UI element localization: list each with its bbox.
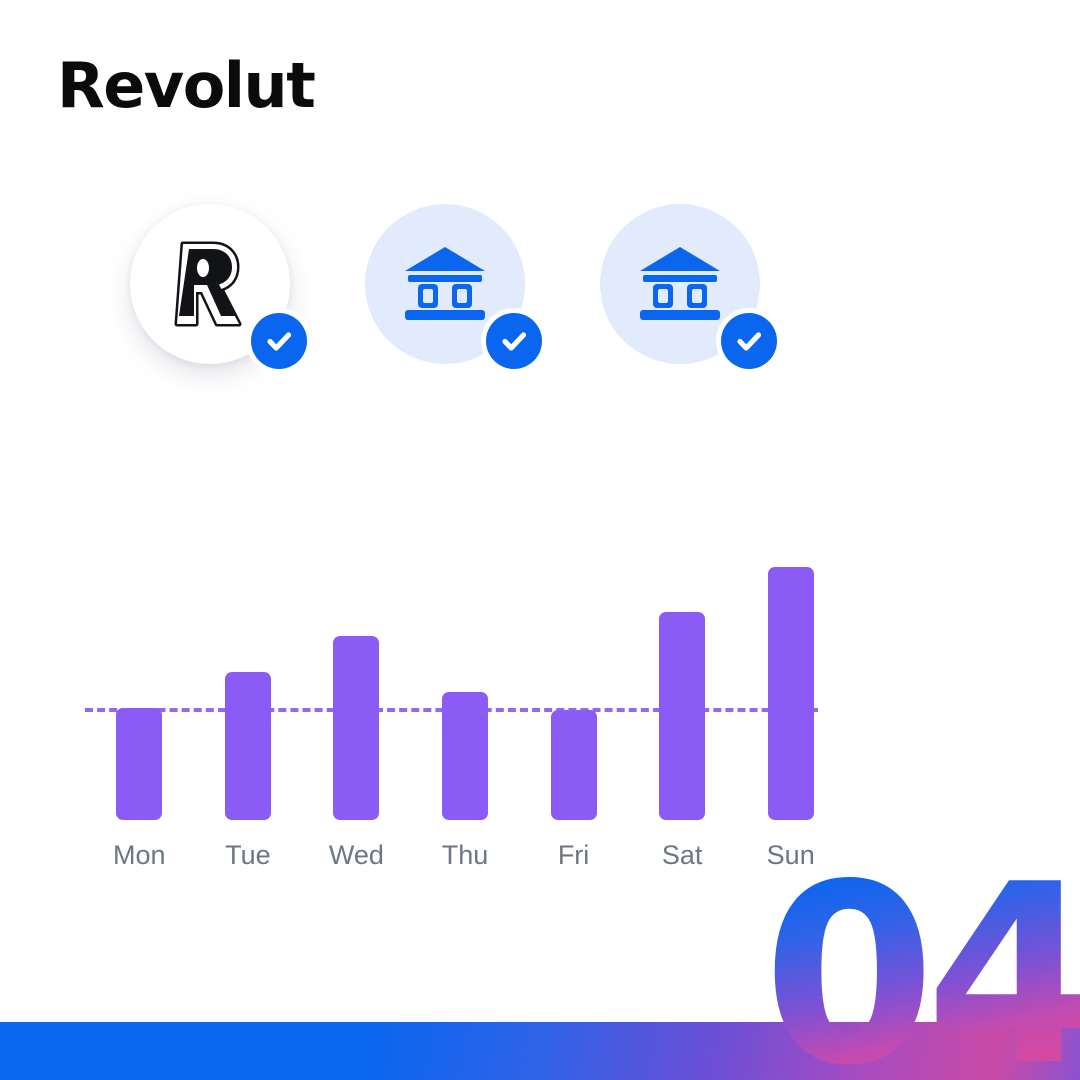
bank-icon [402, 244, 488, 324]
check-icon [733, 325, 765, 357]
chart-bar [551, 710, 597, 820]
check-icon [498, 325, 530, 357]
verified-badge [716, 308, 782, 374]
check-icon [263, 325, 295, 357]
verified-badge [246, 308, 312, 374]
weekly-bar-chart: MonTueWedThuFriSatSun [85, 545, 845, 885]
chart-x-axis: MonTueWedThuFriSatSun [85, 835, 845, 875]
chart-bar [225, 672, 271, 820]
x-axis-label: Thu [410, 835, 520, 875]
x-axis-label: Wed [301, 835, 411, 875]
x-axis-label: Fri [519, 835, 629, 875]
account-circle-bank-2[interactable] [600, 204, 760, 364]
bank-icon [637, 244, 723, 324]
page-number: 04 [763, 875, 1080, 1078]
verified-badge [481, 308, 547, 374]
account-circle-bank-1[interactable] [365, 204, 525, 364]
x-axis-label: Mon [84, 835, 194, 875]
chart-bar [659, 612, 705, 820]
check-badge-disc [486, 313, 542, 369]
chart-bar [768, 567, 814, 820]
brand-wordmark: Revolut [57, 55, 314, 117]
chart-bar [333, 636, 379, 820]
chart-plot-area [85, 545, 845, 820]
chart-bar [116, 708, 162, 820]
slide-canvas: Revolut [0, 0, 1080, 1080]
x-axis-label: Tue [193, 835, 303, 875]
revolut-r-logo-icon [169, 238, 251, 330]
linked-accounts-group [130, 204, 830, 394]
chart-bar [442, 692, 488, 820]
check-badge-disc [721, 313, 777, 369]
check-badge-disc [251, 313, 307, 369]
x-axis-label: Sat [627, 835, 737, 875]
account-circle-revolut[interactable] [130, 204, 290, 364]
